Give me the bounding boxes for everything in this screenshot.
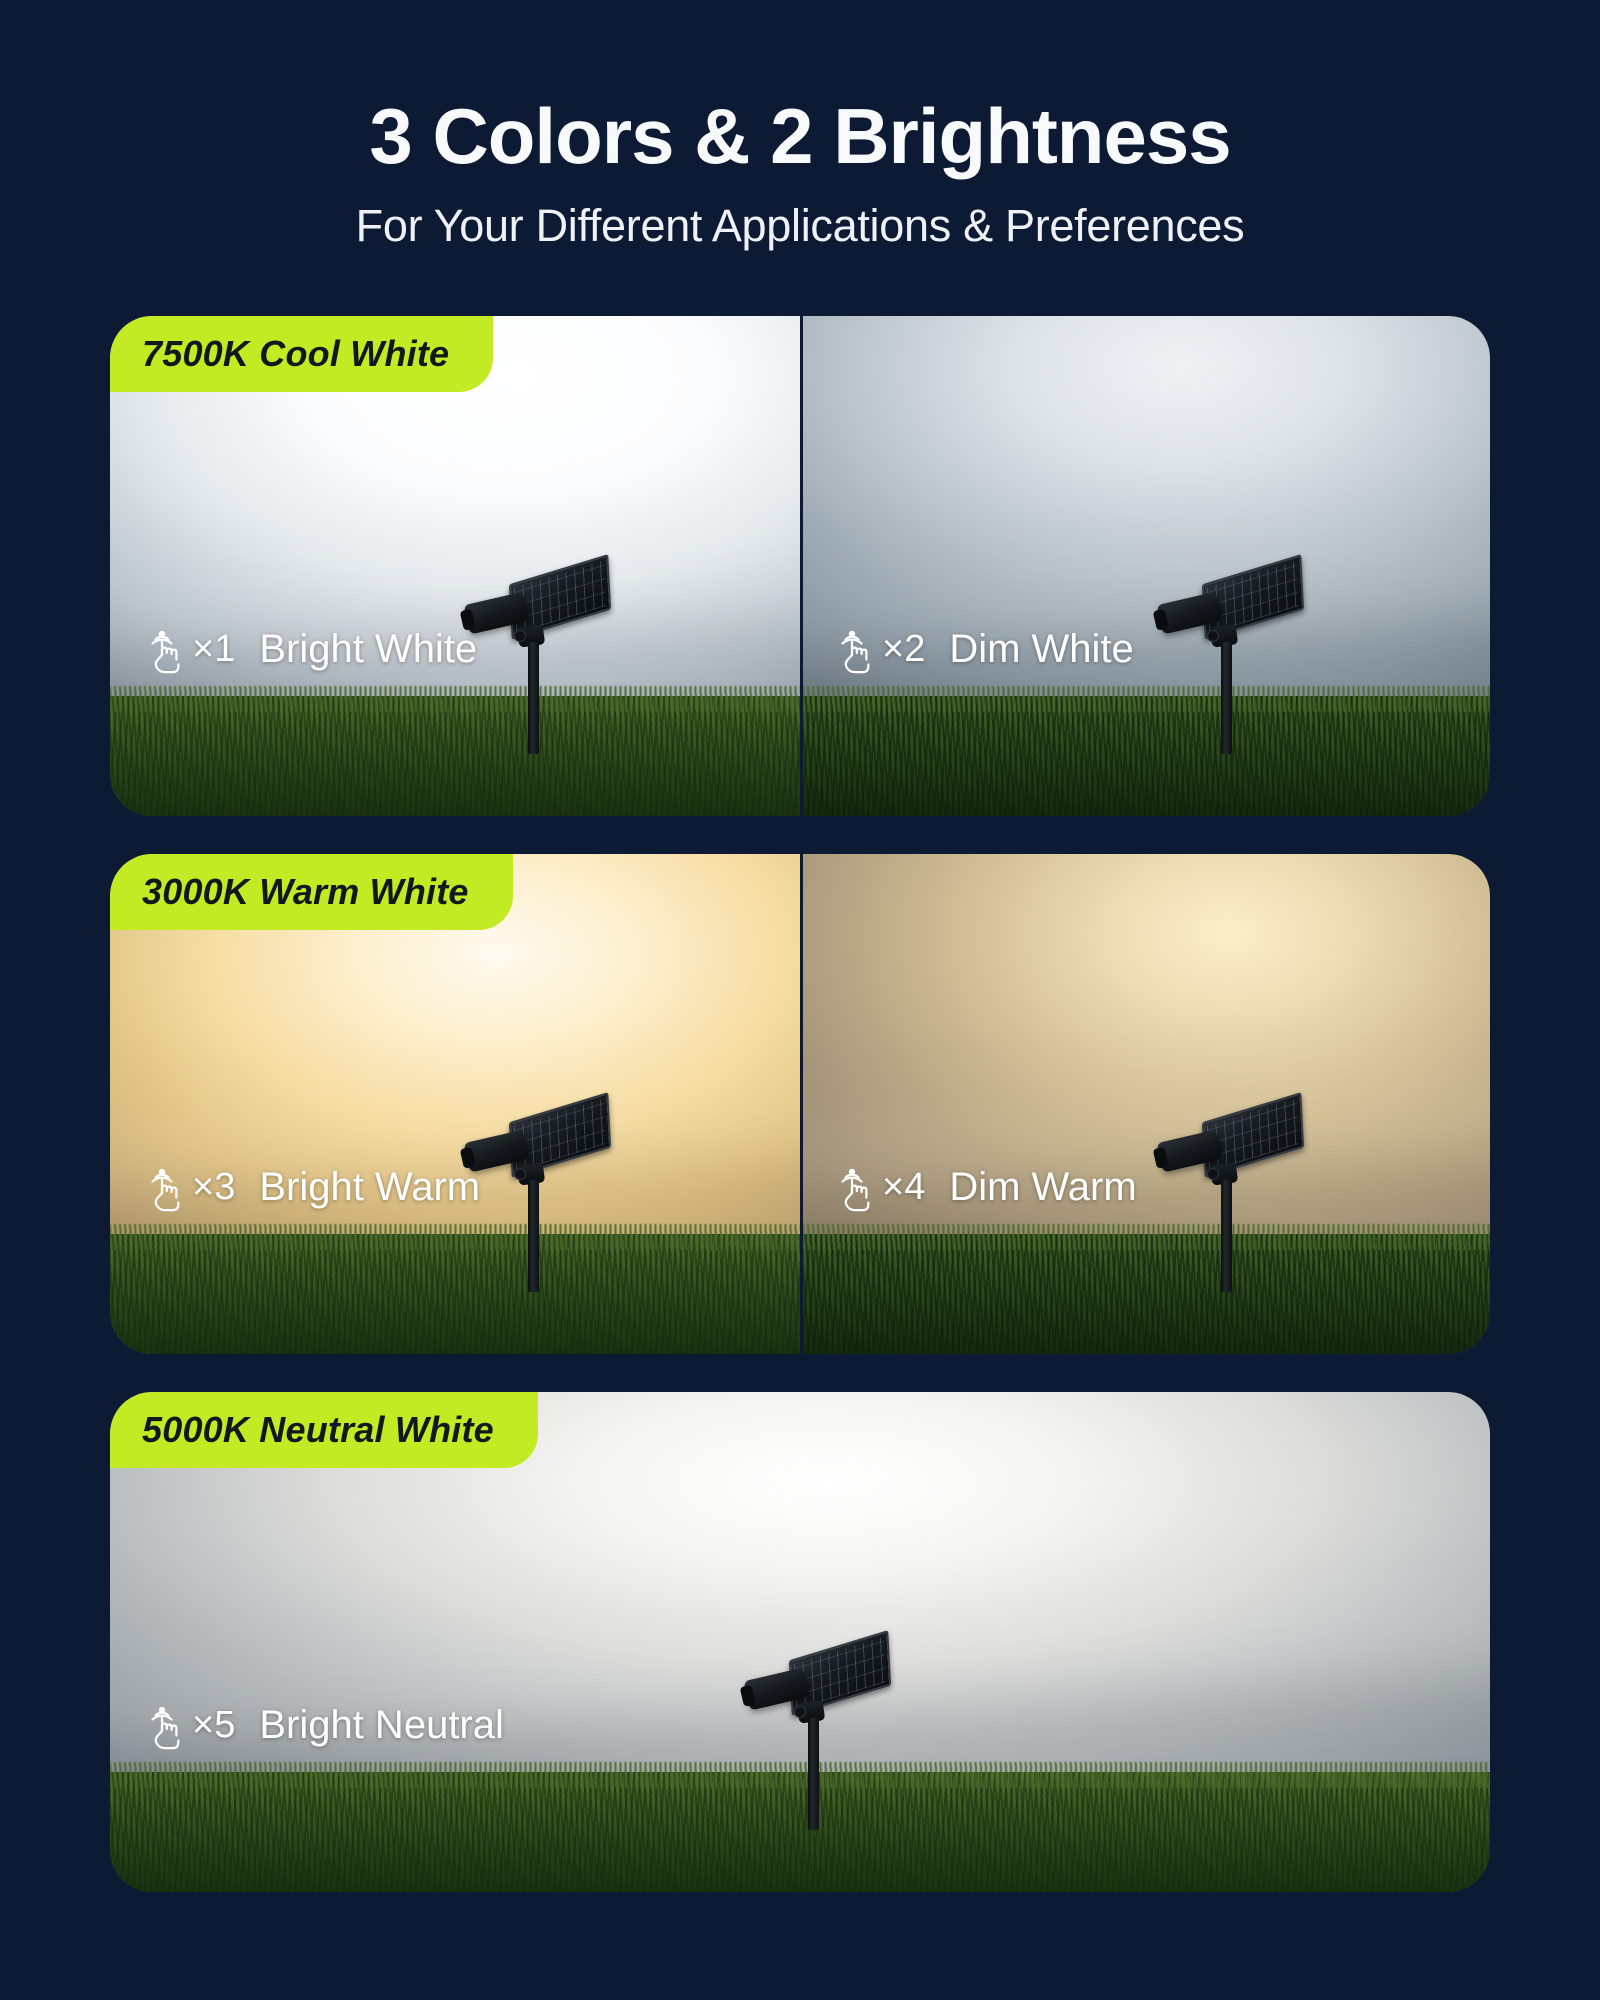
color-mode-cards: 7500K Cool White ×1 Bright White [110,252,1490,1892]
header: 3 Colors & 2 Brightness For Your Differe… [0,0,1600,252]
lamp-pivot-knob [1207,1168,1219,1180]
tap-count: ×2 [882,628,925,671]
solar-light-fixture [460,1102,610,1292]
card-warm-white: 3000K Warm White ×3 Bright Warm [110,854,1490,1354]
infographic-page: 3 Colors & 2 Brightness For Your Differe… [0,0,1600,2000]
page-subtitle: For Your Different Applications & Prefer… [0,200,1600,252]
mode-name: Bright Neutral [259,1703,504,1748]
solar-light-fixture [1153,564,1303,754]
panel-dim-white[interactable] [800,316,1490,816]
lamp-pivot-knob [1207,630,1219,642]
ground-stake [808,1718,819,1830]
badge-color-temperature: 5000K Neutral White [110,1392,538,1469]
scene-grass [803,696,1490,816]
ground-stake [1221,642,1232,754]
scene-grass [803,1234,1490,1354]
tap-count: ×1 [192,628,235,671]
card-cool-white: 7500K Cool White ×1 Bright White [110,316,1490,816]
ground-stake [528,1180,539,1292]
tap-count: ×3 [192,1166,235,1209]
solar-light-fixture [1153,1102,1303,1292]
lamp-pivot-knob [794,1706,806,1718]
tap-hand-icon [144,624,188,676]
badge-color-temperature: 7500K Cool White [110,316,493,393]
tap-label-bright-white: ×1 Bright White [144,624,477,676]
tap-hand-icon [144,1162,188,1214]
tap-label-dim-warm: ×4 Dim Warm [834,1162,1137,1214]
solar-light-fixture [460,564,610,754]
panel-dim-warm[interactable] [800,854,1490,1354]
scene-grass [110,696,800,816]
tap-label-dim-white: ×2 Dim White [834,624,1134,676]
mode-name: Dim Warm [949,1165,1136,1210]
ground-stake [528,642,539,754]
tap-hand-icon [834,624,878,676]
tap-count: ×4 [882,1166,925,1209]
mode-name: Bright Warm [259,1165,480,1210]
page-title: 3 Colors & 2 Brightness [0,96,1600,178]
tap-label-bright-neutral: ×5 Bright Neutral [144,1700,504,1752]
mode-name: Bright White [259,627,477,672]
lamp-pivot-knob [514,630,526,642]
lamp-pivot-knob [514,1168,526,1180]
tap-hand-icon [144,1700,188,1752]
card-neutral-white: 5000K Neutral White ×5 Bright Ne [110,1392,1490,1892]
tap-label-bright-warm: ×3 Bright Warm [144,1162,480,1214]
badge-color-temperature: 3000K Warm White [110,854,513,931]
mode-name: Dim White [949,627,1133,672]
tap-count: ×5 [192,1704,235,1747]
tap-hand-icon [834,1162,878,1214]
ground-stake [1221,1180,1232,1292]
scene-grass [110,1234,800,1354]
solar-light-fixture [740,1640,890,1830]
